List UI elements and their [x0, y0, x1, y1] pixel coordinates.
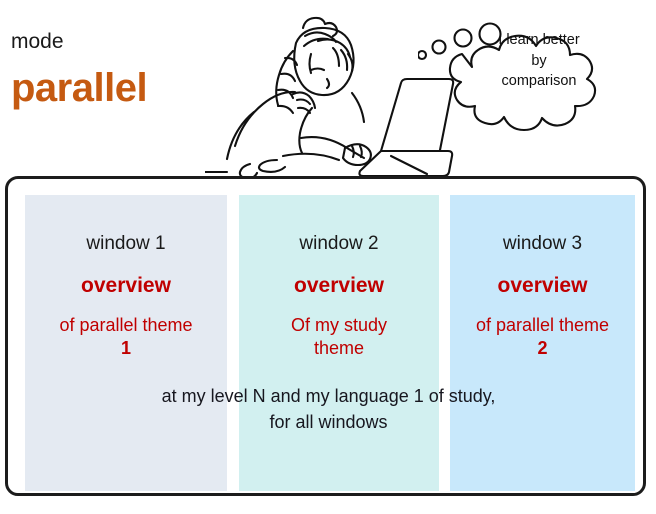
window-panel-2[interactable]: window 2 overview Of my study theme [239, 195, 439, 491]
mode-box: window 1 overview of parallel theme 1 wi… [5, 176, 646, 496]
window-1-subject: of parallel theme 1 [25, 314, 227, 360]
window-1-overview-label: overview [25, 275, 227, 296]
bubble-line-2: by [466, 51, 612, 72]
window-1-emphasis: 1 [25, 337, 227, 360]
window-2-overview-label: overview [239, 275, 439, 296]
window-panel-3[interactable]: window 3 overview of parallel theme 2 [450, 195, 635, 491]
window-panel-1[interactable]: window 1 overview of parallel theme 1 [25, 195, 227, 491]
window-3-subject-text: of parallel theme [476, 315, 609, 335]
windows-row: window 1 overview of parallel theme 1 wi… [8, 179, 643, 493]
window-2-emphasis: theme [239, 337, 439, 360]
mode-label: mode [11, 31, 64, 52]
window-1-title: window 1 [25, 234, 227, 253]
mode-value: parallel [11, 68, 147, 108]
window-3-emphasis: 2 [450, 337, 635, 360]
window-1-subject-text: of parallel theme [59, 315, 192, 335]
window-2-title: window 2 [239, 234, 439, 253]
window-3-title: window 3 [450, 234, 635, 253]
bubble-line-1: I learn better [466, 30, 612, 51]
window-3-overview-label: overview [450, 275, 635, 296]
window-3-subject: of parallel theme 2 [450, 314, 635, 360]
header-region: mode parallel [0, 0, 656, 176]
window-2-subject-text: Of my study [291, 315, 387, 335]
bubble-line-3: comparison [466, 71, 612, 92]
window-2-subject: Of my study theme [239, 314, 439, 360]
thought-bubble-text: I learn better by comparison [466, 30, 612, 92]
